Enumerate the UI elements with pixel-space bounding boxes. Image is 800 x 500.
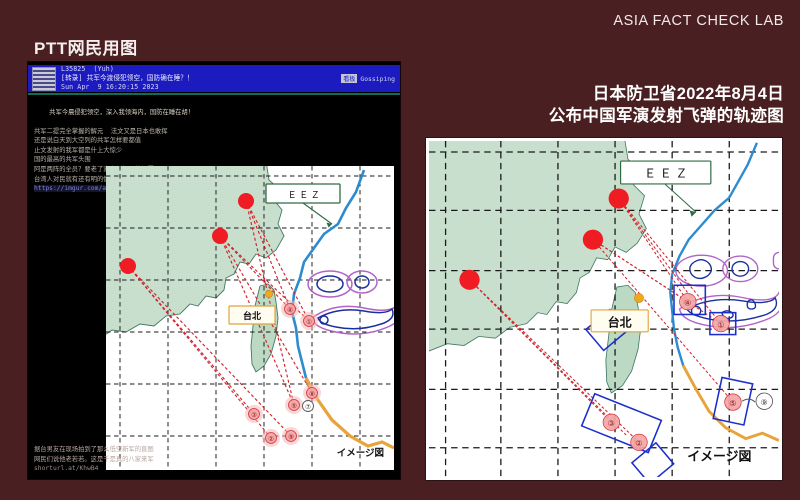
left-panel-title: PTT网民用图: [34, 34, 138, 59]
ptt-footer-link[interactable]: shorturl.at/KhwB4: [34, 465, 98, 472]
launch-site-mid: [583, 230, 603, 250]
ptt-body-line-4: 止文发射的我军都是什上大惊少: [34, 147, 122, 154]
ptt-board-name: Gossiping: [360, 75, 395, 83]
taipei-dot: [634, 293, 643, 302]
ptt-footer-line-0: 据台男友在现场拍到了那么低空新军的直图: [34, 446, 154, 453]
impact-label-9: ⑨: [288, 433, 294, 441]
image-note-label: イメージ図: [687, 449, 751, 464]
official-map: ④ ① ⑤ ③ ② ⑨ ＥＥＺ 台北 イメージ図: [429, 141, 779, 477]
impact-label-3: ③: [608, 419, 615, 428]
ptt-body-line-2: 共军二提完全掌握的解元 法文又是日本也敢挥: [34, 128, 168, 135]
right-panel-title-line1: 日本防卫省2022年8月4日: [549, 84, 784, 106]
ptt-footer-text: 据台男友在现场拍到了那么低空新军的直图 网民们说他老若若。这是千是真的八家来军 …: [34, 445, 364, 474]
impact-label-4: ④: [684, 298, 691, 307]
ryukyu-outline-navy: [687, 260, 777, 321]
taipei-dot: [265, 290, 272, 297]
ptt-body-line-5: 国的最高的共军头围: [34, 156, 91, 163]
launch-site-west: [120, 258, 136, 274]
brand-label: ASIA FACT CHECK LAB: [613, 13, 784, 29]
right-panel-title-line2: 公布中国军演发射飞弹的轨迹图: [549, 106, 784, 128]
launch-site-mid: [212, 228, 228, 244]
ptt-board-info: 看板 Gossiping: [341, 74, 395, 83]
impact-label-4: ④: [287, 306, 293, 314]
right-panel-title: 日本防卫省2022年8月4日 公布中国军演发射飞弹的轨迹图: [549, 84, 784, 128]
impact-label-3: ③: [251, 411, 257, 419]
ptt-screenshot: L35825 (Yuh) [转录] 共军今渡侵犯领空，国防确在睡？！ Sun A…: [28, 62, 400, 479]
ryukyu-outline-navy: [317, 276, 393, 329]
impact-label-2: ②: [635, 439, 642, 448]
ptt-logo-icon: [32, 67, 56, 91]
official-map-svg: ④ ① ⑤ ③ ② ⑨ ＥＥＺ 台北 イメージ図: [429, 141, 779, 477]
impact-label-9: ⑨: [761, 398, 768, 407]
ptt-subject: [转录] 共军今渡侵犯领空，国防确在睡？！: [61, 74, 194, 82]
impact-label-2: ②: [268, 435, 274, 443]
impact-label-7: ⑦: [305, 403, 311, 411]
ptt-footer-line-1: 网民们说他老若若。这是千是真的八家来军: [34, 456, 154, 463]
ptt-post-header: L35825 (Yuh) [转录] 共军今渡侵犯领空，国防确在睡？！ Sun A…: [61, 65, 341, 92]
taipei-label: 台北: [243, 310, 261, 321]
eez-label: ＥＥＺ: [644, 167, 691, 181]
impact-label-5: ⑤: [291, 402, 297, 410]
impact-label-5: ⑤: [729, 399, 736, 408]
ptt-board-tag: 看板: [341, 74, 357, 83]
official-map-frame: ④ ① ⑤ ③ ② ⑨ ＥＥＺ 台北 イメージ図: [426, 138, 782, 480]
embedded-map-svg: ④ ① ⑧ ⑤ ③ ② ⑨ ⑦ ＥＥＺ: [106, 166, 394, 470]
taipei-callout: 台北: [229, 290, 275, 324]
ptt-date: Sun Apr 9 16:20:15 2023: [61, 83, 159, 91]
embedded-trajectory-map: ④ ① ⑧ ⑤ ③ ② ⑨ ⑦ ＥＥＺ: [106, 166, 394, 470]
eez-label: ＥＥＺ: [288, 190, 323, 200]
ptt-body-line-3: 还是说白天到大空列的共军怎样要都值: [34, 137, 141, 144]
launch-site-west: [459, 270, 479, 290]
impact-label-8: ⑧: [309, 390, 315, 398]
launch-site-north: [609, 188, 629, 208]
ptt-titlebar: L35825 (Yuh) [转录] 共军今渡侵犯领空，国防确在睡？！ Sun A…: [28, 65, 400, 92]
taipei-label: 台北: [608, 315, 632, 329]
ptt-body-line-0: 共军今晨侵犯领空，深入我领海内，国防在睡在胡！: [49, 109, 194, 116]
ptt-author: L35825 (Yuh): [61, 65, 114, 73]
impact-label-1: ①: [306, 318, 312, 326]
impact-label-1: ①: [717, 320, 724, 329]
launch-site-north: [238, 193, 254, 209]
taiwan-landmass: [251, 284, 278, 372]
ptt-divider: [28, 93, 400, 95]
